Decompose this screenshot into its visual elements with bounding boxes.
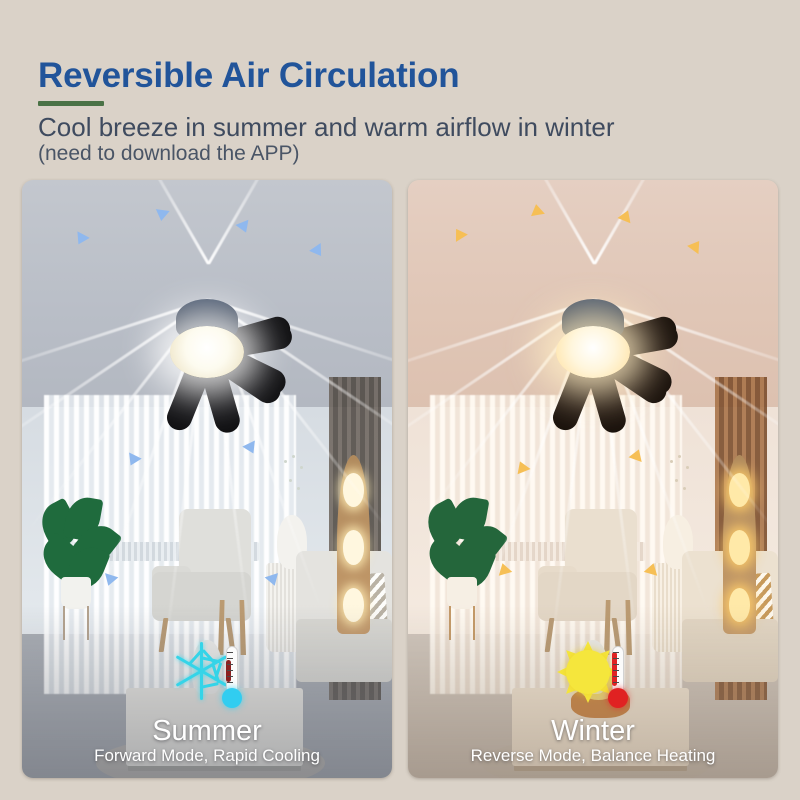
thermometer-icon [222, 646, 242, 708]
snowflake-thermometer-icon [168, 638, 246, 714]
caption-winter: Winter Reverse Mode, Balance Heating [408, 605, 778, 778]
page-subtitle: Cool breeze in summer and warm airflow i… [38, 113, 768, 141]
season-desc-summer: Forward Mode, Rapid Cooling [94, 747, 320, 766]
ceiling-fan-summer [107, 282, 307, 392]
sun-thermometer-icon [554, 638, 632, 714]
panel-winter[interactable]: Winter Reverse Mode, Balance Heating [408, 180, 778, 778]
season-name-summer: Summer [152, 716, 262, 746]
title-accent-bar [38, 101, 104, 106]
comparison-panels: Summer Forward Mode, Rapid Cooling [22, 180, 778, 778]
caption-summer: Summer Forward Mode, Rapid Cooling [22, 605, 392, 778]
ceiling-fan-winter [493, 282, 693, 392]
season-desc-winter: Reverse Mode, Balance Heating [471, 747, 716, 766]
panel-summer[interactable]: Summer Forward Mode, Rapid Cooling [22, 180, 392, 778]
fan-light-globe [556, 326, 630, 378]
fan-light-globe [170, 326, 244, 378]
vase-sprig [281, 455, 307, 521]
season-name-winter: Winter [551, 716, 635, 746]
page-title: Reversible Air Circulation [38, 58, 768, 95]
page-subnote: (need to download the APP) [38, 142, 768, 165]
thermometer-icon [608, 646, 628, 708]
header: Reversible Air Circulation Cool breeze i… [38, 58, 768, 165]
vase-sprig [667, 455, 693, 521]
